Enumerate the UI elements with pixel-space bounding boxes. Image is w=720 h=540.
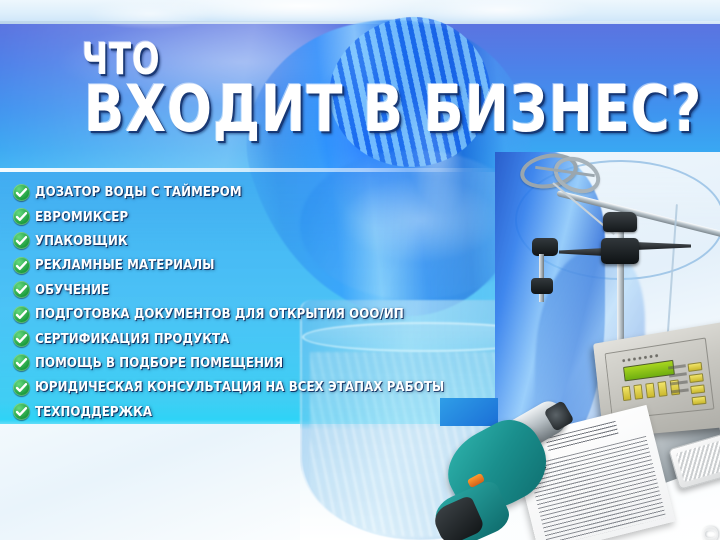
keypad-button bbox=[633, 384, 643, 400]
green-check-circle-icon bbox=[13, 257, 30, 274]
green-check-circle-icon bbox=[13, 403, 30, 420]
list-item: ДОЗАТОР ВОДЫ С ТАЙМЕРОМ bbox=[0, 180, 500, 204]
led-indicator bbox=[638, 357, 641, 360]
list-item-label: СЕРТИФИКАЦИЯ ПРОДУКТА bbox=[35, 332, 229, 346]
bottom-left-fade bbox=[0, 424, 300, 540]
headline-line-2: ВХОДИТ В БИЗНЕС? bbox=[84, 78, 702, 142]
list-item-label: ЮРИДИЧЕСКАЯ КОНСУЛЬТАЦИЯ НА ВСЕХ ЭТАПАХ … bbox=[35, 380, 444, 394]
panel-label bbox=[670, 380, 688, 385]
green-check-circle-icon bbox=[13, 281, 30, 298]
avito-watermark: Avito bbox=[692, 524, 720, 540]
green-check-circle-icon bbox=[13, 184, 30, 201]
keypad-button bbox=[645, 383, 655, 399]
led-indicator bbox=[649, 355, 652, 358]
led-indicator bbox=[628, 358, 631, 361]
keypad-column bbox=[688, 362, 707, 405]
list-item: УПАКОВЩИК bbox=[0, 229, 500, 253]
keypad-button bbox=[622, 386, 632, 401]
list-item-label: РЕКЛАМНЫЕ МАТЕРИАЛЫ bbox=[35, 258, 215, 272]
device-grill bbox=[676, 440, 720, 483]
list-item-label: ДОЗАТОР ВОДЫ С ТАЙМЕРОМ bbox=[35, 185, 242, 199]
list-item: ПОМОЩЬ В ПОДБОРЕ ПОМЕЩЕНИЯ bbox=[0, 351, 500, 375]
list-item: ПОДГОТОВКА ДОКУМЕНТОВ ДЛЯ ОТКРЫТИЯ ООО/И… bbox=[0, 302, 500, 326]
poster-image: ЧТО ВХОДИТ В БИЗНЕС? ДОЗАТОР ВОДЫ С ТАЙМ… bbox=[0, 0, 720, 540]
list-item-label: ОБУЧЕНИЕ bbox=[35, 283, 109, 297]
led-indicator bbox=[622, 359, 625, 362]
list-item-label: ЕВРОМИКСЕР bbox=[35, 210, 128, 224]
keypad-button bbox=[692, 396, 707, 406]
list-item: ЮРИДИЧЕСКАЯ КОНСУЛЬТАЦИЯ НА ВСЕХ ЭТАПАХ … bbox=[0, 375, 500, 399]
green-check-circle-icon bbox=[13, 232, 30, 249]
list-item: ЕВРОМИКСЕР bbox=[0, 204, 500, 228]
keypad-button bbox=[657, 381, 667, 397]
indicator-leds bbox=[622, 354, 658, 362]
list-item-label: ПОДГОТОВКА ДОКУМЕНТОВ ДЛЯ ОТКРЫТИЯ ООО/И… bbox=[35, 307, 404, 321]
list-item-label: УПАКОВЩИК bbox=[35, 234, 128, 248]
keypad-button bbox=[689, 373, 704, 383]
led-indicator bbox=[633, 357, 636, 360]
list-item: ТЕХПОДДЕРЖКА bbox=[0, 400, 500, 424]
clamp-block-lower bbox=[601, 238, 639, 264]
green-check-circle-icon bbox=[13, 379, 30, 396]
list-item: ОБУЧЕНИЕ bbox=[0, 278, 500, 302]
blue-corner-swatch bbox=[440, 398, 498, 426]
list-item: РЕКЛАМНЫЕ МАТЕРИАЛЫ bbox=[0, 253, 500, 277]
led-indicator bbox=[655, 354, 658, 357]
list-item-label: ПОМОЩЬ В ПОДБОРЕ ПОМЕЩЕНИЯ bbox=[35, 356, 283, 370]
small-clamp-lower bbox=[531, 278, 553, 294]
keypad-button bbox=[690, 384, 705, 394]
green-check-circle-icon bbox=[13, 208, 30, 225]
clamp-knob-upper bbox=[603, 212, 637, 232]
panel-label bbox=[669, 372, 687, 377]
keypad-button bbox=[688, 362, 703, 372]
lcd-display bbox=[623, 360, 675, 382]
list-item: СЕРТИФИКАЦИЯ ПРОДУКТА bbox=[0, 326, 500, 350]
list-item-label: ТЕХПОДДЕРЖКА bbox=[35, 405, 152, 419]
headline-block: ЧТО ВХОДИТ В БИЗНЕС? bbox=[0, 26, 720, 156]
features-list: ДОЗАТОР ВОДЫ С ТАЙМЕРОМ ЕВРОМИКСЕР УПАКО… bbox=[0, 172, 500, 424]
small-clamp-upper bbox=[532, 238, 558, 256]
green-check-circle-icon bbox=[13, 354, 30, 371]
led-indicator bbox=[644, 356, 647, 359]
control-panel bbox=[605, 337, 715, 419]
green-check-circle-icon bbox=[13, 306, 30, 323]
green-check-circle-icon bbox=[13, 330, 30, 347]
panel-labels bbox=[668, 364, 689, 393]
